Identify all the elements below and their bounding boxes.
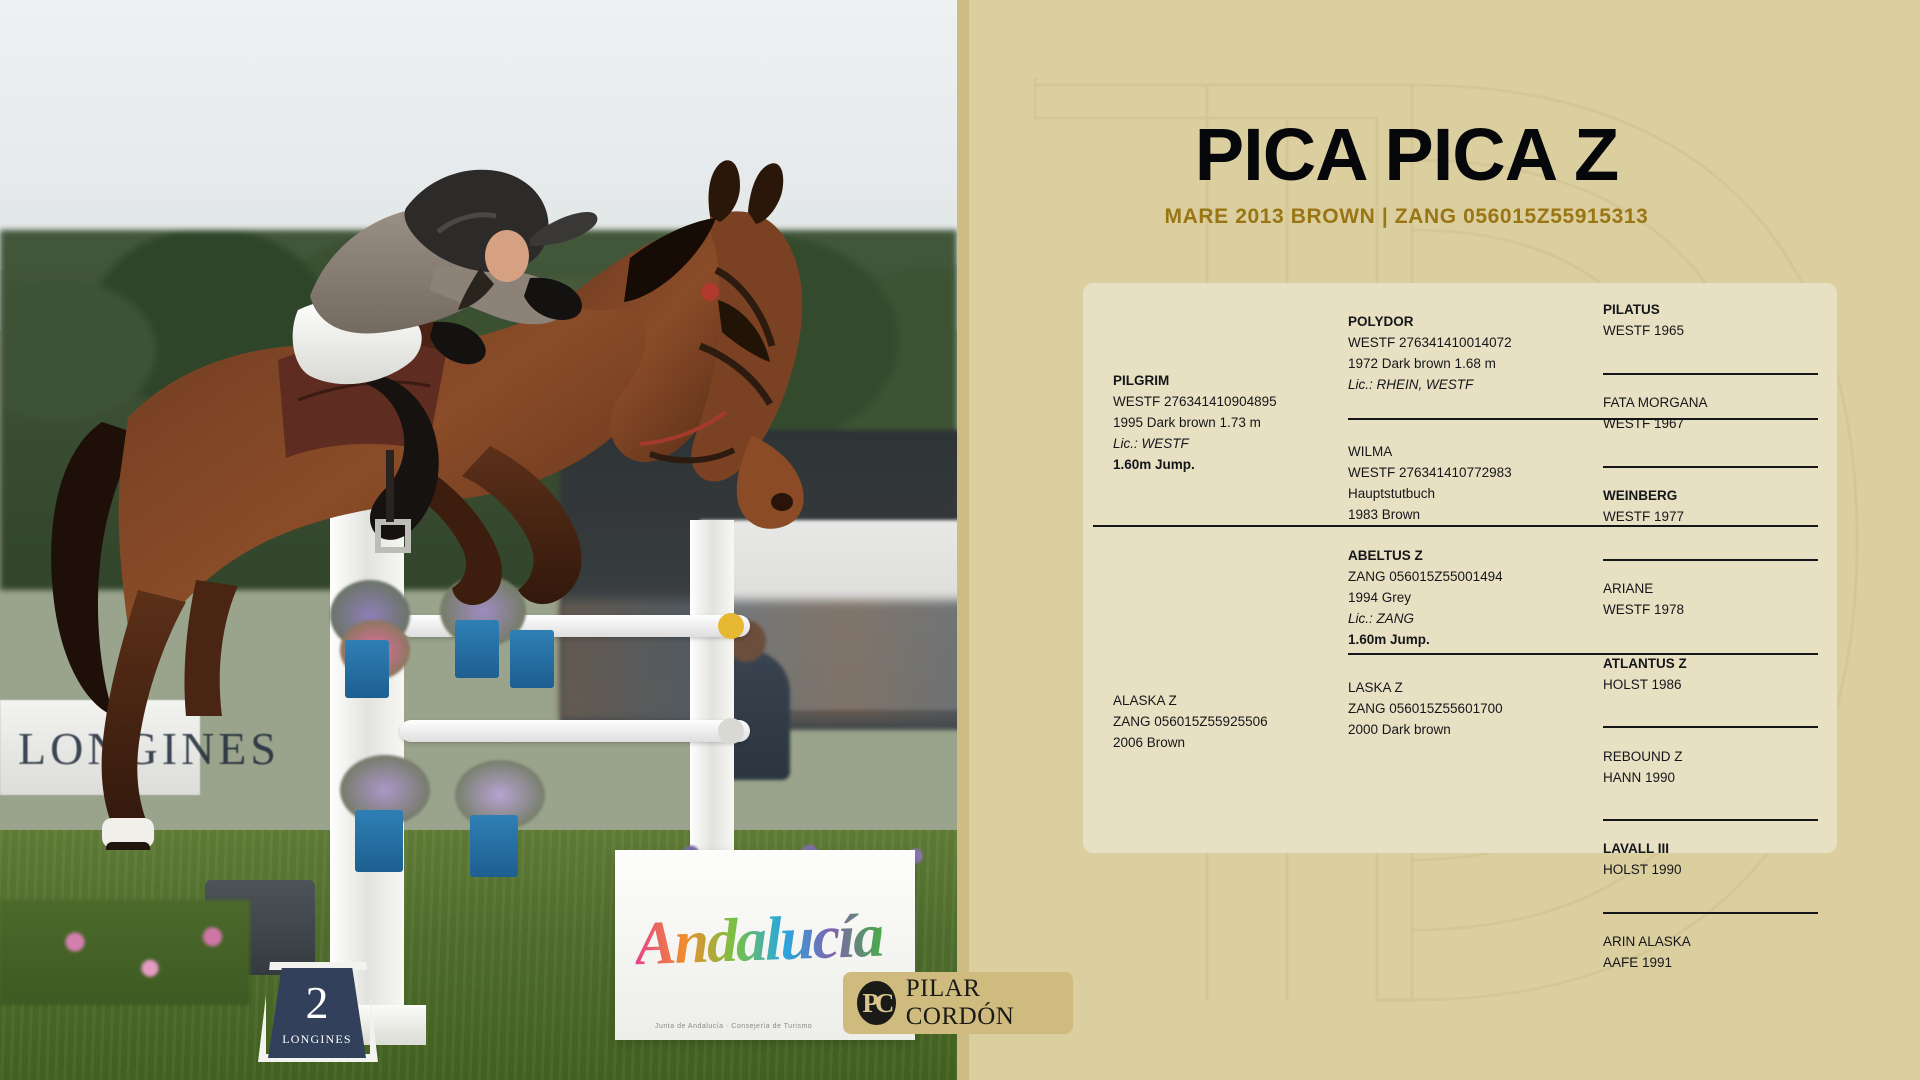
- pedigree-node-line: WESTF 276341410772983: [1348, 463, 1563, 484]
- pedigree-card: PILGRIMWESTF 2763414109048951995 Dark br…: [1083, 283, 1837, 853]
- pedigree-node: POLYDORWESTF 2763414100140721972 Dark br…: [1348, 312, 1563, 396]
- pedigree-node-name: PILATUS: [1603, 300, 1818, 321]
- pedigree-node-name: PILGRIM: [1113, 371, 1323, 392]
- pedigree-separator: [1603, 373, 1818, 375]
- pedigree-separator: [1348, 653, 1818, 655]
- pedigree-separator: [1603, 559, 1818, 561]
- pedigree-node-line: 2000 Dark brown: [1348, 720, 1563, 741]
- pedigree-node: WEINBERGWESTF 1977: [1603, 486, 1818, 528]
- pedigree-node-name: WEINBERG: [1603, 486, 1818, 507]
- pedigree-node-line: 2006 Brown: [1113, 733, 1323, 754]
- pedigree-node-line: Hauptstutbuch: [1348, 484, 1563, 505]
- pedigree-node-name: LASKA Z: [1348, 678, 1563, 699]
- pedigree-node-name: ALASKA Z: [1113, 691, 1323, 712]
- poster-root: LONGINES Andalucía Junta de Andalucía · …: [0, 0, 1920, 1080]
- pedigree-node: LAVALL IIIHOLST 1990: [1603, 839, 1818, 881]
- pedigree-node-line: 1972 Dark brown 1.68 m: [1348, 354, 1563, 375]
- pedigree-node-line: ZANG 056015Z55601700: [1348, 699, 1563, 720]
- pedigree-node-name: ATLANTUS Z: [1603, 654, 1818, 675]
- pedigree-node-line: 1.60m Jump.: [1348, 630, 1563, 651]
- brand-wordmark: PILAR CORDÓN: [906, 975, 1073, 1031]
- pedigree-node-line: WESTF 276341410014072: [1348, 333, 1563, 354]
- brand-logo[interactable]: PC PILAR CORDÓN: [843, 972, 1073, 1034]
- pedigree-node-line: HOLST 1990: [1603, 860, 1818, 881]
- pedigree-node: PILATUSWESTF 1965: [1603, 300, 1818, 342]
- hero-photo: LONGINES Andalucía Junta de Andalucía · …: [0, 0, 957, 1080]
- pedigree-node-name: REBOUND Z: [1603, 747, 1818, 768]
- sponsor-board-microtext: Junta de Andalucía · Consejería de Turis…: [655, 1023, 812, 1030]
- pedigree-separator: [1603, 466, 1818, 468]
- pedigree-node-line: AAFE 1991: [1603, 953, 1818, 974]
- sponsor-board-logo: Andalucía: [634, 901, 884, 981]
- pedigree-node: REBOUND ZHANN 1990: [1603, 747, 1818, 789]
- info-panel: PICA PICA Z MARE 2013 BROWN | ZANG 05601…: [957, 0, 1920, 1080]
- jump-number: 2: [268, 968, 366, 1026]
- horse-nostril: [771, 493, 793, 511]
- page-title: PICA PICA Z: [957, 118, 1920, 192]
- pedigree-node-line: ZANG 056015Z55925506: [1113, 712, 1323, 733]
- jump-number-brand: LONGINES: [268, 1032, 366, 1047]
- horse-and-rider: [10, 150, 840, 850]
- pedigree-separator: [1093, 525, 1818, 527]
- pedigree-node-name: FATA MORGANA: [1603, 393, 1818, 414]
- pedigree-node-line: 1995 Dark brown 1.73 m: [1113, 413, 1323, 434]
- pedigree-node: WILMAWESTF 276341410772983Hauptstutbuch1…: [1348, 442, 1563, 526]
- horse-hindleg-left: [102, 590, 186, 834]
- pedigree-node-line: HANN 1990: [1603, 768, 1818, 789]
- pedigree-node: ABELTUS ZZANG 056015Z550014941994 GreyLi…: [1348, 546, 1563, 651]
- browband-rosette: [701, 283, 719, 301]
- pedigree-node: LASKA ZZANG 056015Z556017002000 Dark bro…: [1348, 678, 1563, 741]
- page-subtitle: MARE 2013 BROWN | ZANG 056015Z55915313: [957, 205, 1920, 229]
- pedigree-node: ATLANTUS ZHOLST 1986: [1603, 654, 1818, 696]
- pedigree-node: ARIANEWESTF 1978: [1603, 579, 1818, 621]
- jump-number-plaque: 2 LONGINES: [268, 968, 366, 1058]
- pedigree-separator: [1348, 418, 1818, 420]
- pedigree-node-name: LAVALL III: [1603, 839, 1818, 860]
- pedigree-separator: [1603, 726, 1818, 728]
- horse-muzzle: [737, 436, 804, 529]
- pedigree-node-name: WILMA: [1348, 442, 1563, 463]
- pedigree-node-name: POLYDOR: [1348, 312, 1563, 333]
- pedigree-node-line: 1994 Grey: [1348, 588, 1563, 609]
- decor-flowerbed: [0, 900, 250, 1005]
- pedigree-node: PILGRIMWESTF 2763414109048951995 Dark br…: [1113, 371, 1323, 476]
- horse-hindleg-right: [184, 580, 238, 716]
- horse-hoof: [106, 842, 150, 850]
- pedigree-table: PILGRIMWESTF 2763414109048951995 Dark br…: [1083, 283, 1837, 853]
- pedigree-node-line: HOLST 1986: [1603, 675, 1818, 696]
- pedigree-node-line: Lic.: RHEIN, WESTF: [1348, 375, 1563, 396]
- pedigree-node-line: ZANG 056015Z55001494: [1348, 567, 1563, 588]
- pedigree-node-line: WESTF 276341410904895: [1113, 392, 1323, 413]
- pedigree-node-line: WESTF 1965: [1603, 321, 1818, 342]
- rider-face: [485, 230, 529, 282]
- pedigree-node-line: WESTF 1978: [1603, 600, 1818, 621]
- pedigree-node-line: Lic.: WESTF: [1113, 434, 1323, 455]
- pedigree-node-name: ABELTUS Z: [1348, 546, 1563, 567]
- pedigree-node-line: 1.60m Jump.: [1113, 455, 1323, 476]
- pedigree-node-line: 1983 Brown: [1348, 505, 1563, 526]
- pedigree-node-name: ARIN ALASKA: [1603, 932, 1818, 953]
- pedigree-node-line: Lic.: ZANG: [1348, 609, 1563, 630]
- pedigree-node: FATA MORGANAWESTF 1967: [1603, 393, 1818, 435]
- pedigree-node: ALASKA ZZANG 056015Z559255062006 Brown: [1113, 691, 1323, 754]
- monogram-icon: PC: [857, 981, 896, 1025]
- pedigree-node: ARIN ALASKAAAFE 1991: [1603, 932, 1818, 974]
- pedigree-node-name: ARIANE: [1603, 579, 1818, 600]
- pedigree-separator: [1603, 819, 1818, 821]
- pedigree-separator: [1603, 912, 1818, 914]
- horse-ear-right: [748, 163, 783, 224]
